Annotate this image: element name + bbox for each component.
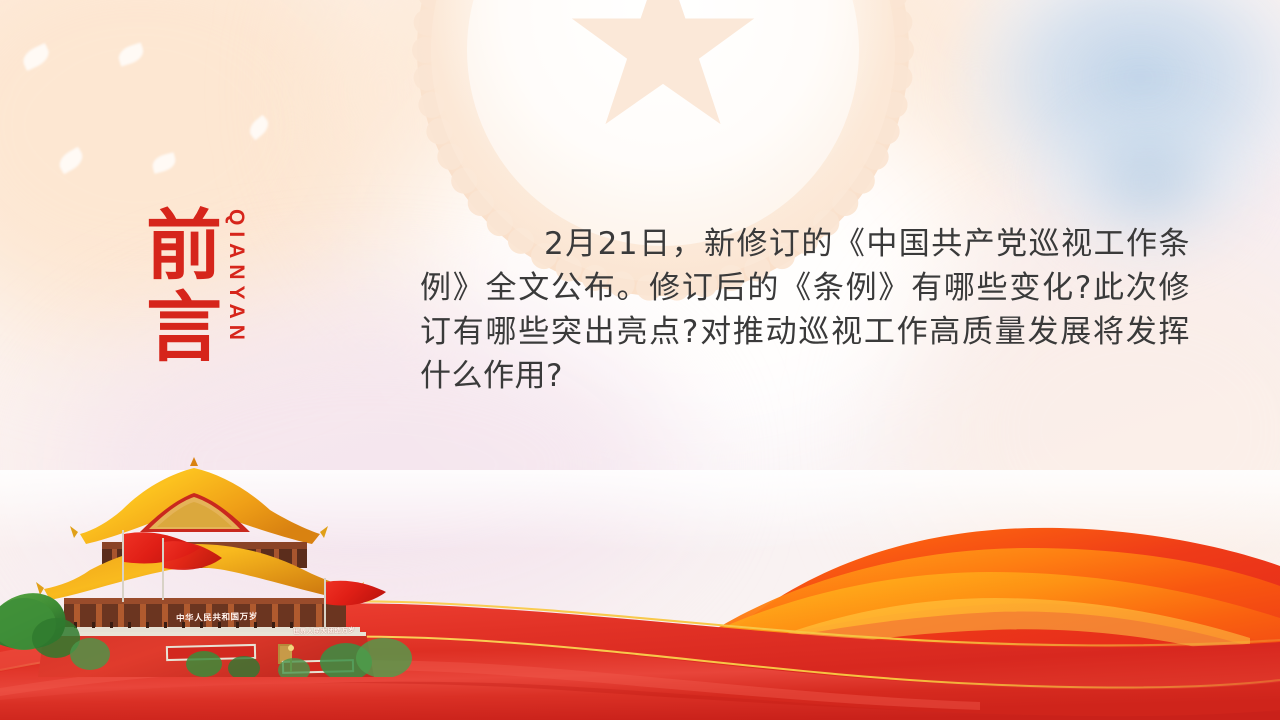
petal-icon [116,42,146,66]
page-title: 前言 [138,205,230,369]
petal-icon [20,43,53,71]
petal-icon [150,152,177,174]
gate-banner-left: 中华人民共和国万岁 [176,610,258,624]
petal-icon [246,115,272,141]
page-title-pinyin: QIANYAN [224,209,248,346]
petal-icon [55,147,86,175]
gate-banner-right: 世界人民大团结万岁 [293,624,355,636]
body-paragraph: 2月21日，新修订的《中国共产党巡视工作条例》全文公布。修订后的《条例》有哪些变… [420,222,1190,398]
section-title-block: 前言 QIANYAN [138,205,288,390]
slide-canvas: 前言 QIANYAN 2月21日，新修订的《中国共产党巡视工作条例》全文公布。修… [0,0,1280,720]
five-pointed-star-icon [568,0,758,133]
tiananmen-gate-icon [0,452,414,677]
